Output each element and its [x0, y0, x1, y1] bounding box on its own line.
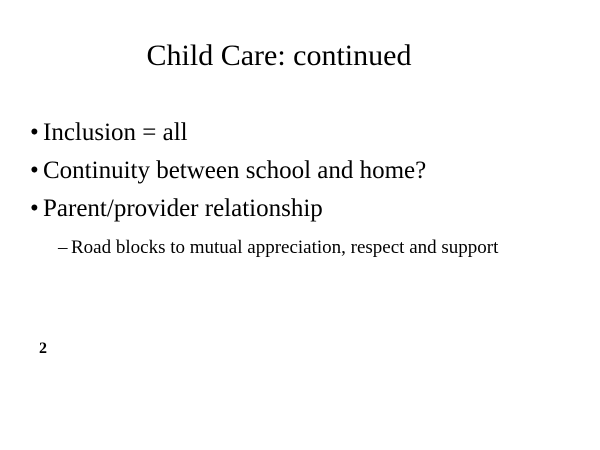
sub-bullet-list: – Road blocks to mutual appreciation, re… [30, 234, 570, 261]
bullet-item-inclusion: • Inclusion = all [30, 114, 570, 152]
sub-bullet-item-road-blocks: – Road blocks to mutual appreciation, re… [58, 234, 541, 261]
page-title: Child Care: continued [0, 38, 558, 74]
bullet-marker-icon: • [30, 190, 39, 228]
bullet-label: Inclusion = all [43, 119, 188, 146]
bullet-item-parent-provider: • Parent/provider relationship [30, 190, 570, 228]
slide-body-content: • Inclusion = all • Continuity between s… [30, 114, 570, 261]
dash-marker-icon: – [58, 234, 68, 261]
bullet-marker-icon: • [30, 114, 39, 152]
slide-number: 2 [39, 340, 47, 358]
presentation-slide: Child Care: continued • Inclusion = all … [0, 0, 600, 450]
bullet-label: Parent/provider relationship [43, 195, 323, 222]
bullet-item-continuity: • Continuity between school and home? [30, 152, 570, 190]
bullet-label: Continuity between school and home? [43, 157, 426, 184]
sub-bullet-label: Road blocks to mutual appreciation, resp… [71, 237, 498, 258]
bullet-marker-icon: • [30, 152, 39, 190]
